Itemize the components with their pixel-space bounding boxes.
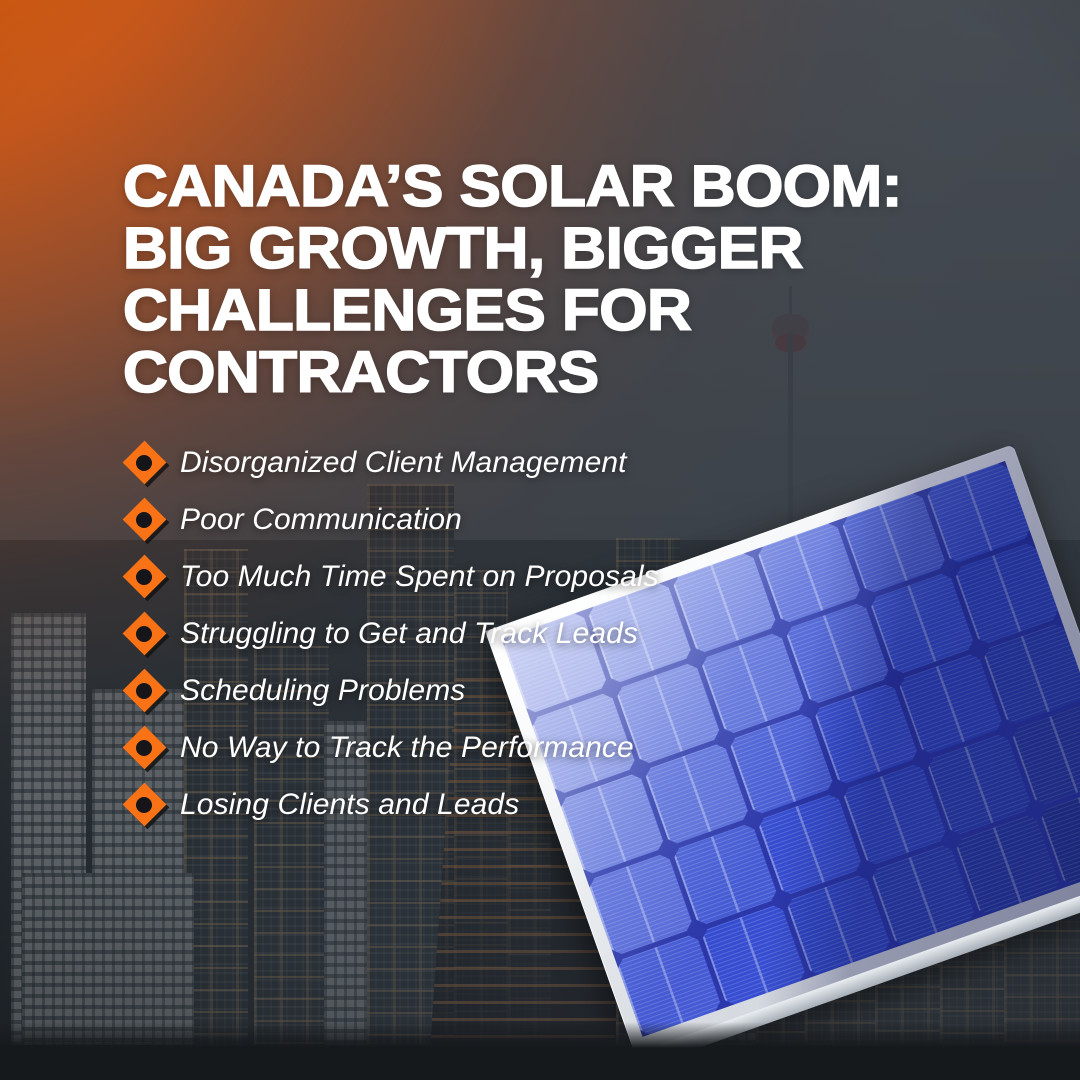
list-item-label: No Way to Track the Performance [180,731,634,765]
list-item-label: Struggling to Get and Track Leads [180,617,638,651]
list-item: Losing Clients and Leads [122,776,659,833]
list-item-label: Poor Communication [180,503,462,537]
list-item: Disorganized Client Management [122,434,659,491]
list-item-label: Disorganized Client Management [180,446,627,480]
diamond-bullet-icon [122,498,166,542]
poster-content: CANADA’S SOLAR BOOM: BIG GROWTH, BIGGER … [0,0,1080,1080]
list-item: Struggling to Get and Track Leads [122,605,659,662]
diamond-bullet-icon [122,669,166,713]
bottom-bar [0,1048,1080,1080]
diamond-bullet-icon [122,441,166,485]
solar-marketing-poster: Canada CANADA’S SOLAR BOOM: BIG GROWTH, … [0,0,1080,1080]
list-item: Scheduling Problems [122,662,659,719]
list-item: Too Much Time Spent on Proposals [122,548,659,605]
page-title: CANADA’S SOLAR BOOM: BIG GROWTH, BIGGER … [123,156,1011,404]
diamond-bullet-icon [122,726,166,770]
list-item: Poor Communication [122,491,659,548]
list-item: No Way to Track the Performance [122,719,659,776]
diamond-bullet-icon [122,612,166,656]
diamond-bullet-icon [122,555,166,599]
list-item-label: Losing Clients and Leads [180,788,519,822]
list-item-label: Too Much Time Spent on Proposals [180,560,659,594]
challenges-list: Disorganized Client ManagementPoor Commu… [122,434,659,833]
diamond-bullet-icon [122,783,166,827]
list-item-label: Scheduling Problems [180,674,465,708]
